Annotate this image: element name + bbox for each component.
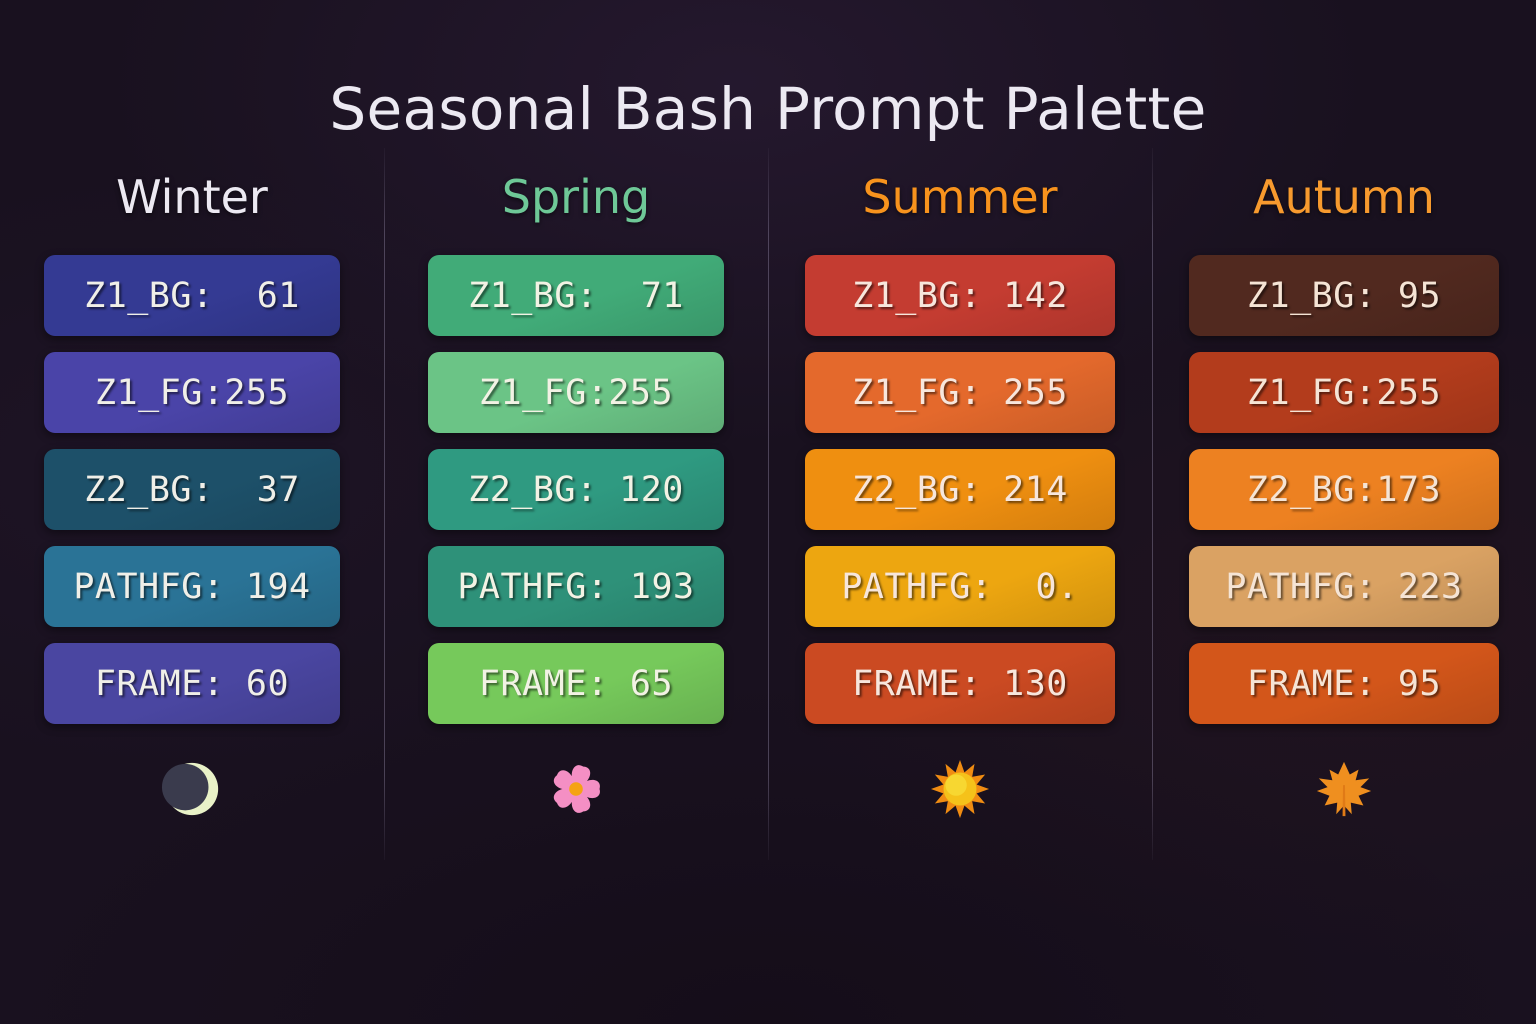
palette-card-frame[interactable]: FRAME: 130 [805, 643, 1115, 724]
palette-card-z1_bg[interactable]: Z1_BG: 71 [428, 255, 724, 336]
palette-card-label: PATHFG: 194 [73, 567, 310, 607]
palette-card-pathfg[interactable]: PATHFG: 194 [44, 546, 340, 627]
palette-card-z2_bg[interactable]: Z2_BG:173 [1189, 449, 1499, 530]
maple-leaf-icon [1311, 756, 1377, 822]
palette-card-label: Z2_BG:173 [1247, 470, 1441, 510]
season-column-winter: WinterZ1_BG: 61Z1_FG:255Z2_BG: 37PATHFG:… [0, 148, 384, 888]
palette-card-label: Z1_BG: 95 [1247, 276, 1441, 316]
palette-card-label: Z1_FG:255 [1247, 373, 1441, 413]
palette-card-z1_bg[interactable]: Z1_BG: 95 [1189, 255, 1499, 336]
palette-card-label: FRAME: 60 [95, 664, 289, 704]
column-divider [384, 148, 385, 860]
palette-card-list: Z1_BG: 95Z1_FG:255Z2_BG:173PATHFG: 223FR… [1189, 255, 1499, 724]
palette-card-label: Z1_BG: 142 [852, 276, 1068, 316]
palette-card-frame[interactable]: FRAME: 95 [1189, 643, 1499, 724]
palette-card-label: PATHFG: 0. [841, 567, 1078, 607]
palette-card-z2_bg[interactable]: Z2_BG: 214 [805, 449, 1115, 530]
palette-card-label: PATHFG: 193 [457, 567, 694, 607]
cherry-blossom-icon [543, 756, 609, 822]
season-heading-summer: Summer [862, 174, 1057, 220]
palette-card-pathfg[interactable]: PATHFG: 223 [1189, 546, 1499, 627]
palette-card-label: Z1_FG:255 [95, 373, 289, 413]
palette-card-z1_fg[interactable]: Z1_FG:255 [1189, 352, 1499, 433]
palette-card-z1_bg[interactable]: Z1_BG: 142 [805, 255, 1115, 336]
palette-card-z2_bg[interactable]: Z2_BG: 37 [44, 449, 340, 530]
column-divider [1152, 148, 1153, 860]
palette-card-label: Z2_BG: 120 [468, 470, 684, 510]
waning-crescent-moon-icon [159, 756, 225, 822]
season-column-spring: SpringZ1_BG: 71Z1_FG:255Z2_BG: 120PATHFG… [384, 148, 768, 888]
season-column-autumn: AutumnZ1_BG: 95Z1_FG:255Z2_BG:173PATHFG:… [1152, 148, 1536, 888]
season-columns: WinterZ1_BG: 61Z1_FG:255Z2_BG: 37PATHFG:… [0, 148, 1536, 888]
season-column-summer: SummerZ1_BG: 142Z1_FG: 255Z2_BG: 214PATH… [768, 148, 1152, 888]
palette-card-z1_fg[interactable]: Z1_FG:255 [428, 352, 724, 433]
palette-card-label: FRAME: 130 [852, 664, 1068, 704]
palette-card-z1_fg[interactable]: Z1_FG:255 [44, 352, 340, 433]
palette-card-label: FRAME: 95 [1247, 664, 1441, 704]
palette-card-pathfg[interactable]: PATHFG: 193 [428, 546, 724, 627]
palette-card-label: Z1_BG: 61 [84, 276, 300, 316]
palette-card-list: Z1_BG: 61Z1_FG:255Z2_BG: 37PATHFG: 194FR… [44, 255, 340, 724]
palette-card-label: Z2_BG: 37 [84, 470, 300, 510]
palette-card-z1_bg[interactable]: Z1_BG: 61 [44, 255, 340, 336]
sun-icon [927, 756, 993, 822]
palette-card-label: Z1_FG:255 [479, 373, 673, 413]
season-heading-winter: Winter [116, 174, 268, 220]
palette-card-label: FRAME: 65 [479, 664, 673, 704]
palette-card-z1_fg[interactable]: Z1_FG: 255 [805, 352, 1115, 433]
season-heading-autumn: Autumn [1253, 174, 1435, 220]
season-heading-spring: Spring [502, 174, 650, 220]
palette-card-list: Z1_BG: 71Z1_FG:255Z2_BG: 120PATHFG: 193F… [428, 255, 724, 724]
palette-card-label: Z2_BG: 214 [852, 470, 1068, 510]
palette-card-label: Z1_FG: 255 [852, 373, 1068, 413]
palette-card-list: Z1_BG: 142Z1_FG: 255Z2_BG: 214PATHFG: 0.… [805, 255, 1115, 724]
palette-card-frame[interactable]: FRAME: 60 [44, 643, 340, 724]
palette-card-label: Z1_BG: 71 [468, 276, 684, 316]
palette-card-frame[interactable]: FRAME: 65 [428, 643, 724, 724]
palette-card-z2_bg[interactable]: Z2_BG: 120 [428, 449, 724, 530]
column-divider [768, 148, 769, 860]
palette-card-pathfg[interactable]: PATHFG: 0. [805, 546, 1115, 627]
palette-card-label: PATHFG: 223 [1225, 567, 1462, 607]
page-title: Seasonal Bash Prompt Palette [0, 75, 1536, 143]
